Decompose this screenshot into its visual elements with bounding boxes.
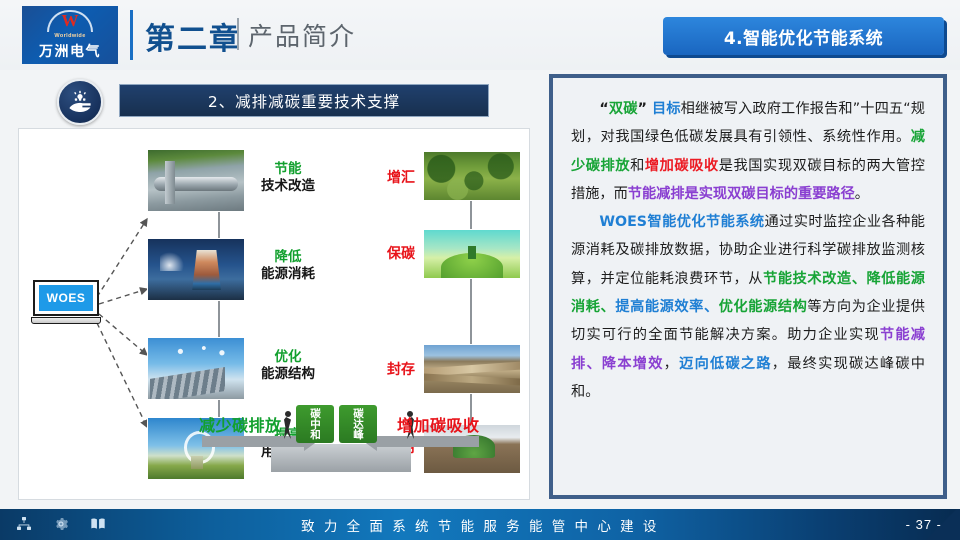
puzzle-piece-carbon-neutral: 碳中和 (296, 405, 334, 443)
desc-p2-run-4: 优化能源结构 (719, 299, 808, 315)
logo-worldwide-text: Worldwide (54, 33, 85, 39)
desc-p1-run-10: 。 (855, 186, 869, 202)
woes-hub-laptop: WOES (31, 280, 101, 328)
footer-corner-accent (924, 509, 960, 540)
thumb-geological-storage (423, 344, 521, 394)
section-tag-label: 4.智能优化节能系统 (724, 24, 883, 49)
desc-p1-run-6: 和 (630, 158, 645, 174)
subtitle-text: 2、减排减碳重要技术支撑 (208, 90, 400, 112)
desc-p1-run-3: 目标 (647, 101, 681, 117)
slide-footer: 致 力 全 面 系 统 节 能 服 务 能 管 中 心 建 设 - 37 - (0, 509, 960, 540)
left-label-3-sub: 能源结构 (249, 366, 327, 383)
person-silhouette-left (281, 411, 295, 441)
diagram-ground-plane (271, 444, 411, 472)
desc-p2-run-8: 迈向低碳之路 (679, 356, 772, 372)
description-body: “双碳” 目标相继被写入政府工作报告和”十四五“规划，对我国绿色低碳发展具有引领… (553, 78, 943, 406)
description-paragraph-1: “双碳” 目标相继被写入政府工作报告和”十四五“规划，对我国绿色低碳发展具有引领… (571, 95, 925, 208)
description-panel: “双碳” 目标相继被写入政府工作报告和”十四五“规划，对我国绿色低碳发展具有引领… (549, 74, 947, 499)
laptop-screen: WOES (33, 280, 99, 316)
description-paragraph-2: WOES智能优化节能系统通过实时监控企业各种能源消耗及碳排放数据，协助企业进行科… (571, 208, 925, 406)
logo-emblem-letter: W (47, 11, 93, 31)
footer-icon-group (16, 516, 106, 537)
right-label-2: 保碳 (387, 243, 415, 263)
woes-label: WOES (47, 291, 86, 305)
left-label-3-title: 优化 (249, 349, 327, 366)
chapter-subtitle: 产品简介 (248, 17, 356, 53)
desc-p2-run-7: ， (664, 356, 679, 372)
thumb-industrial-pipes (147, 149, 245, 212)
right-label-3: 封存 (387, 359, 415, 379)
desc-p1-run-9: 节能减排是实现双碳目标的重要路径 (628, 186, 855, 202)
thumb-power-plant (147, 238, 245, 301)
desc-p2-run-3: 提高能源效率、 (615, 299, 718, 315)
laptop-base (31, 317, 101, 324)
book-icon[interactable] (90, 516, 106, 537)
company-logo: W Worldwide 万洲电气 (22, 6, 118, 64)
desc-p1-run-2: ” (638, 101, 647, 117)
desc-p1-run-1: 双碳 (609, 101, 638, 117)
desc-p1-run-7: 增加碳吸收 (645, 158, 719, 174)
left-label-1-title: 节能 (249, 161, 327, 178)
chapter-title: 第二章 (145, 14, 241, 58)
subtitle-bar: 2、减排减碳重要技术支撑 (119, 84, 489, 117)
thumb-green-earth (423, 229, 521, 279)
thumb-solar-wind (147, 337, 245, 400)
left-label-2-sub: 能源消耗 (249, 266, 327, 283)
reduce-emission-label: 减少碳排放 (199, 412, 282, 436)
footer-slogan: 致 力 全 面 系 统 节 能 服 务 能 管 中 心 建 设 (0, 509, 960, 540)
left-label-2-title: 降低 (249, 249, 327, 266)
carbon-strategy-diagram: 节能 技术改造 降低 能源消耗 优化 能源结构 提高 用能效率 增汇 保碳 封存… (18, 128, 530, 500)
hand-with-gear-icon (57, 79, 103, 125)
thumb-forest (423, 151, 521, 201)
puzzle-right-label: 碳达峰 (352, 408, 364, 440)
slide-header: W Worldwide 万洲电气 第二章 产品简介 4.智能优化节能系统 (0, 0, 960, 70)
left-label-2: 降低 能源消耗 (249, 249, 327, 283)
logo-emblem-icon: W (47, 10, 93, 32)
laptop-screen-content: WOES (39, 285, 93, 311)
increase-absorption-arrow (376, 436, 479, 447)
chapter-separator (237, 18, 239, 50)
left-label-1: 节能 技术改造 (249, 161, 327, 195)
increase-absorption-label: 增加碳吸收 (397, 412, 480, 436)
sitemap-icon[interactable] (16, 516, 32, 537)
gear-icon[interactable] (53, 516, 69, 537)
left-label-1-sub: 技术改造 (249, 178, 327, 195)
section-tag-badge: 4.智能优化节能系统 (663, 17, 944, 55)
right-label-1: 增汇 (387, 167, 415, 187)
logo-company-name: 万洲电气 (39, 41, 101, 61)
puzzle-left-label: 碳中和 (309, 408, 321, 440)
desc-p1-run-0: “ (599, 101, 608, 117)
header-divider (130, 10, 133, 60)
puzzle-piece-carbon-peak: 碳达峰 (339, 405, 377, 443)
desc-p2-run-0: WOES智能优化节能系统 (599, 214, 764, 230)
left-label-3: 优化 能源结构 (249, 349, 327, 383)
